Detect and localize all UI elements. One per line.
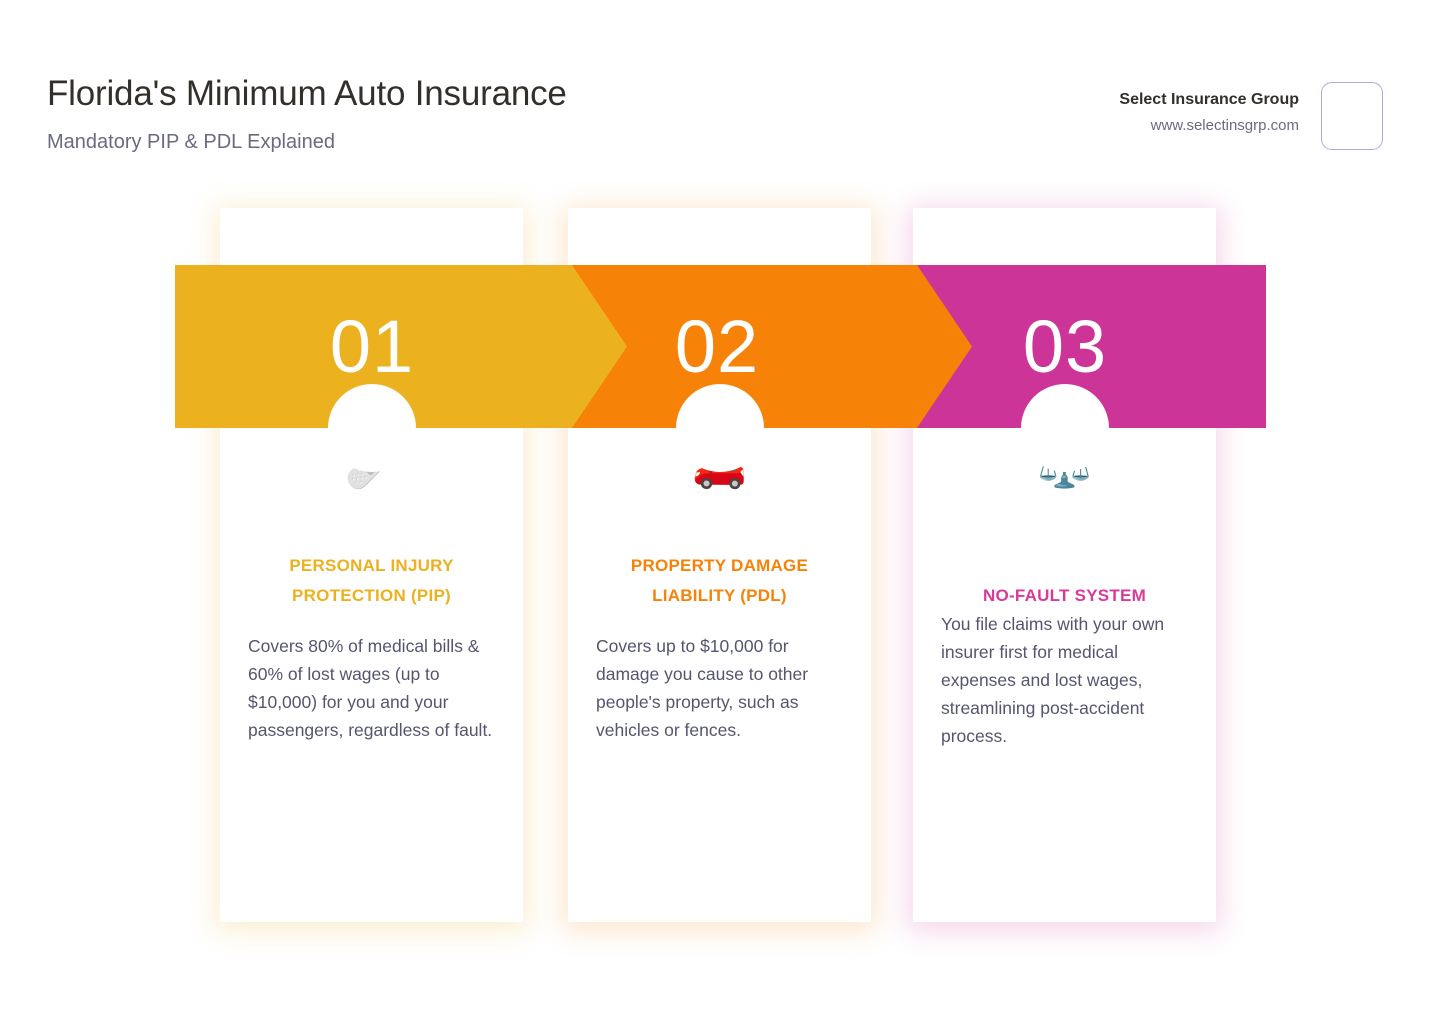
notch-circle-1 [328,384,416,472]
step-card-1-body: Covers 80% of medical bills & 60% of los… [248,632,499,744]
step-card-3-body: You file claims with your own insurer fi… [941,610,1192,750]
notch-circle-2 [676,384,764,472]
infographic-page: Florida's Minimum Auto Insurance Mandato… [0,0,1440,1024]
steps-card-group: 🩹 PERSONAL INJURY PROTECTION (PIP) Cover… [0,0,1440,1024]
step-card-2-heading: PROPERTY DAMAGE LIABILITY (PDL) [596,551,843,611]
step-card-2-body: Covers up to $10,000 for damage you caus… [596,632,847,744]
step-card-3-heading: NO-FAULT SYSTEM [941,581,1188,611]
notch-circle-3 [1021,384,1109,472]
step-card-1-heading: PERSONAL INJURY PROTECTION (PIP) [248,551,495,611]
